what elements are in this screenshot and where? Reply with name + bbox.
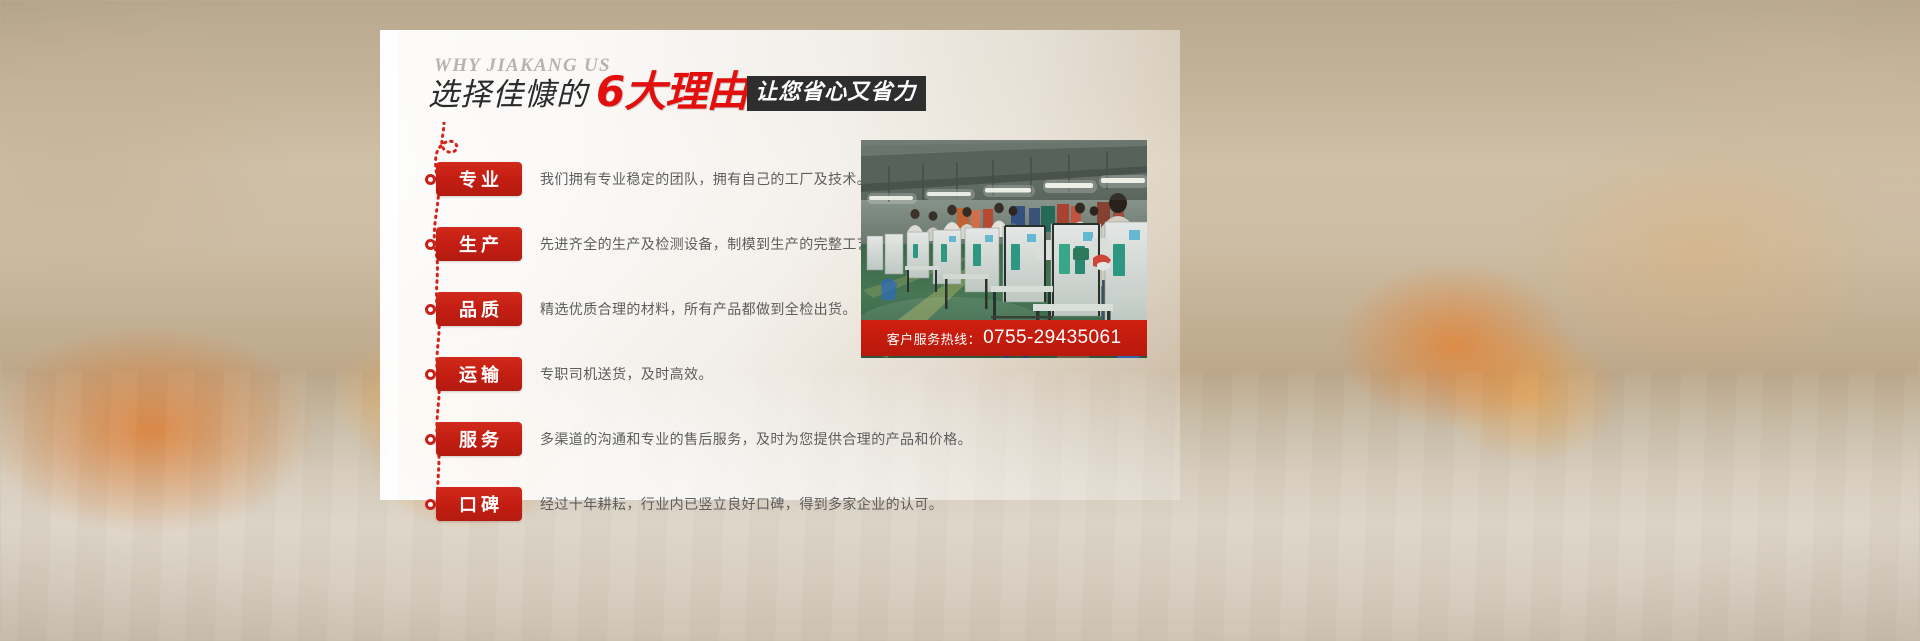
reason-description: 经过十年耕耘，行业内已竖立良好口碑，得到多家企业的认可。 xyxy=(540,494,943,514)
reason-badge: 品质 xyxy=(436,292,522,326)
timeline-node-icon xyxy=(425,304,436,315)
timeline-node-icon xyxy=(425,434,436,445)
reason-row-6[interactable]: 口碑 经过十年耕耘，行业内已竖立良好口碑，得到多家企业的认可。 xyxy=(436,487,1176,521)
reason-badge: 服务 xyxy=(436,422,522,456)
headline-title-red: 6大理由 xyxy=(596,71,747,113)
timeline-node-icon xyxy=(425,239,436,250)
headline-tagline-badge: 让您省心又省力 xyxy=(747,76,926,111)
reason-description: 我们拥有专业稳定的团队，拥有自己的工厂及技术。 xyxy=(540,169,871,189)
reason-description: 精选优质合理的材料，所有产品都做到全检出货。 xyxy=(540,299,857,319)
reason-description: 专职司机送货，及时高效。 xyxy=(540,364,713,384)
reason-badge: 专业 xyxy=(436,162,522,196)
hotline-bar[interactable]: 客户服务热线： 0755-29435061 xyxy=(861,320,1147,356)
hotline-label: 客户服务热线： xyxy=(887,329,982,348)
timeline-node-icon xyxy=(425,174,436,185)
timeline-node-icon xyxy=(425,369,436,380)
reason-description: 多渠道的沟通和专业的售后服务，及时为您提供合理的产品和价格。 xyxy=(540,429,972,449)
reason-badge: 生产 xyxy=(436,227,522,261)
timeline-node-icon xyxy=(425,499,436,510)
headline-title-cn: 选择佳慷的 xyxy=(428,80,588,113)
reason-badge: 运输 xyxy=(436,357,522,391)
hotline-number: 0755-29435061 xyxy=(983,327,1121,349)
reason-row-5[interactable]: 服务 多渠道的沟通和专业的售后服务，及时为您提供合理的产品和价格。 xyxy=(436,422,1176,456)
reason-description: 先进齐全的生产及检测设备，制模到生产的完整工艺。 xyxy=(540,234,886,254)
headline-title-row: 选择佳慷的 6大理由 让您省心又省力 xyxy=(428,71,926,113)
reason-badge: 口碑 xyxy=(436,487,522,521)
reason-row-4[interactable]: 运输 专职司机送货，及时高效。 xyxy=(436,357,1176,391)
